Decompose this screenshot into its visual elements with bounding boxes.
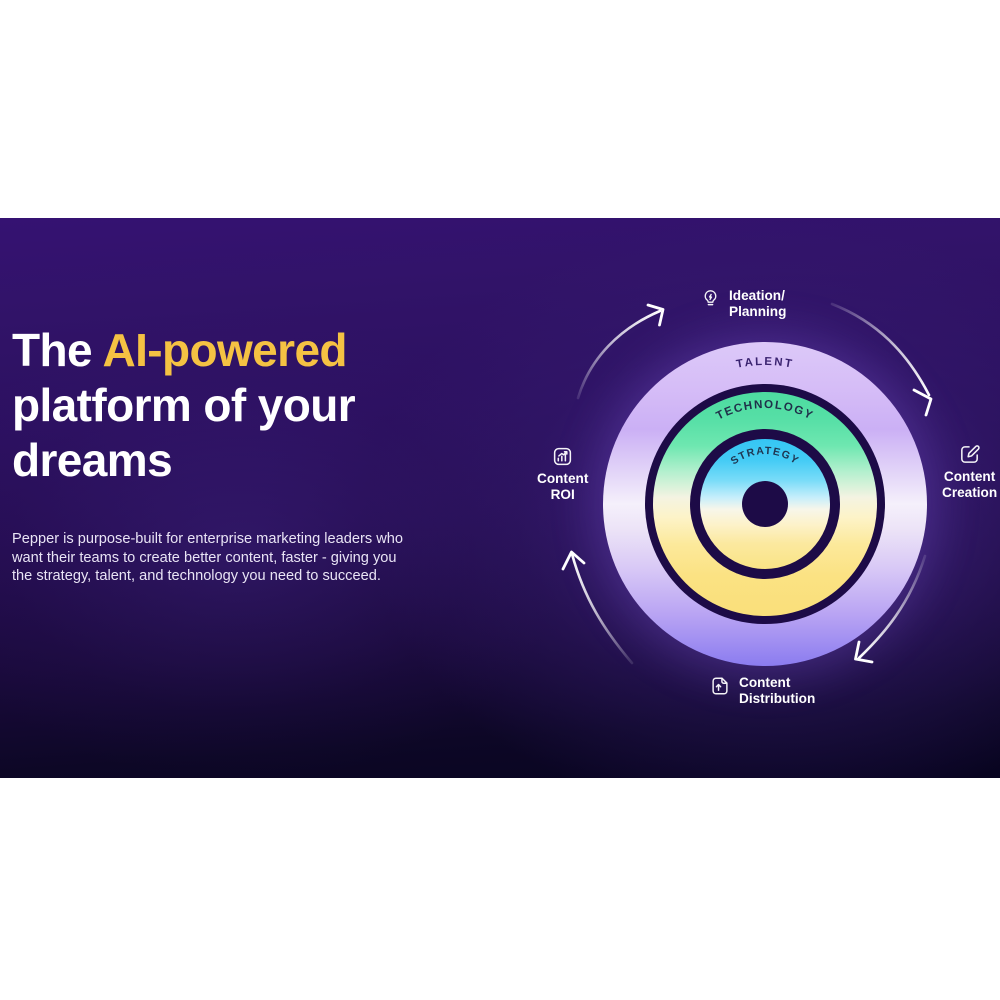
concentric-rings: TALENT TECHNOLOGY STRATEGY bbox=[603, 342, 927, 666]
cycle-node-distribution-label: Content Distribution bbox=[739, 675, 815, 707]
ring-core bbox=[742, 481, 788, 527]
cycle-node-roi-label: Content ROI bbox=[537, 471, 588, 503]
cycle-node-ideation-label: Ideation/ Planning bbox=[729, 288, 786, 320]
hero-copy-block: The AI-poweredplatform of yourdreams Pep… bbox=[12, 323, 442, 586]
cycle-node-distribution[interactable]: Content Distribution bbox=[709, 675, 815, 707]
cycle-node-ideation[interactable]: Ideation/ Planning bbox=[700, 288, 786, 320]
headline-line3: dreams bbox=[12, 434, 172, 486]
pencil-square-icon bbox=[958, 443, 981, 466]
chart-analytics-icon bbox=[551, 445, 574, 468]
lightbulb-icon bbox=[700, 288, 721, 309]
hero-subcopy: Pepper is purpose-built for enterprise m… bbox=[12, 488, 410, 586]
content-lifecycle-diagram: TALENT TECHNOLOGY STRATEGY Ideation/ Pla… bbox=[480, 238, 1000, 738]
cycle-node-roi[interactable]: Content ROI bbox=[537, 445, 588, 503]
page-title: The AI-poweredplatform of yourdreams bbox=[12, 323, 442, 488]
hero-banner: The AI-poweredplatform of yourdreams Pep… bbox=[0, 218, 1000, 778]
headline-line2: platform of your bbox=[12, 379, 355, 431]
cycle-node-creation-label: Content Creation bbox=[942, 469, 997, 501]
cycle-node-creation[interactable]: Content Creation bbox=[942, 443, 997, 501]
headline-accent: AI-powered bbox=[102, 324, 346, 376]
headline-line1-plain: The bbox=[12, 324, 102, 376]
file-upload-icon bbox=[709, 675, 731, 697]
